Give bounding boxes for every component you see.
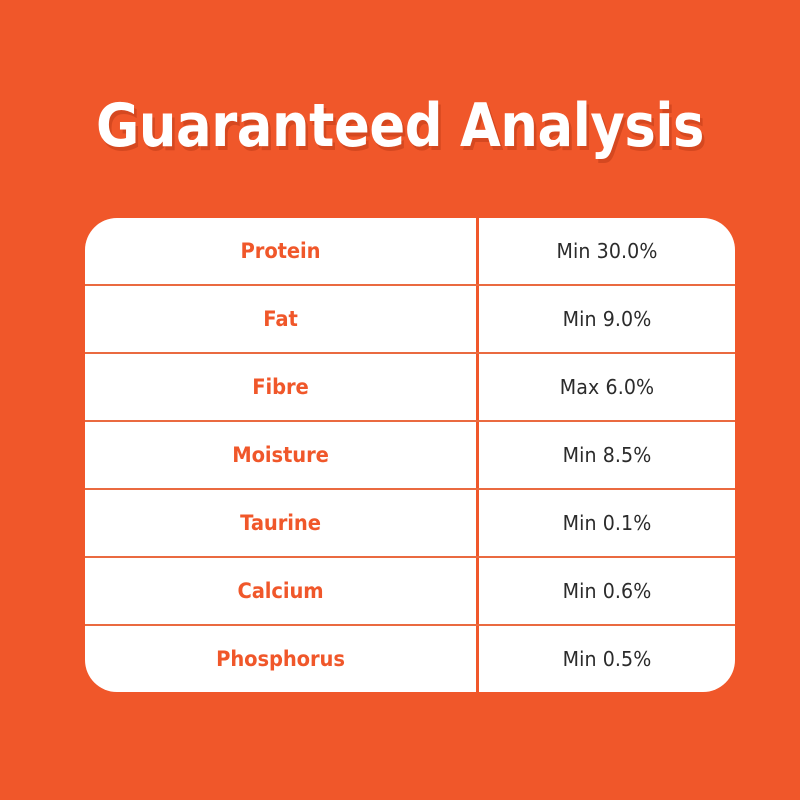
- column-divider: [476, 626, 479, 692]
- column-divider: [476, 286, 479, 352]
- column-divider: [476, 490, 479, 556]
- table-row: Calcium Min 0.6%: [85, 556, 735, 624]
- nutrition-table: Protein Min 30.0% Fat Min 9.0% Fibre Max…: [85, 218, 735, 692]
- column-divider: [476, 422, 479, 488]
- table-row: Fibre Max 6.0%: [85, 352, 735, 420]
- table-row: Protein Min 30.0%: [85, 218, 735, 284]
- nutrient-amount: Min 0.1%: [485, 490, 728, 556]
- nutrient-amount: Min 30.0%: [485, 218, 728, 284]
- column-divider: [476, 218, 479, 284]
- nutrient-name: Fat: [99, 286, 463, 352]
- table-row: Phosphorus Min 0.5%: [85, 624, 735, 692]
- nutrient-amount: Min 0.6%: [485, 558, 728, 624]
- nutrient-name: Fibre: [99, 354, 463, 420]
- table-row: Taurine Min 0.1%: [85, 488, 735, 556]
- column-divider: [476, 558, 479, 624]
- nutrient-name: Moisture: [99, 422, 463, 488]
- nutrient-name: Phosphorus: [99, 626, 463, 692]
- nutrient-amount: Min 8.5%: [485, 422, 728, 488]
- nutrient-amount: Max 6.0%: [485, 354, 728, 420]
- page-title: Guaranteed Analysis: [48, 92, 752, 160]
- nutrient-amount: Min 0.5%: [485, 626, 728, 692]
- column-divider: [476, 354, 479, 420]
- nutrient-name: Protein: [99, 218, 463, 284]
- guaranteed-analysis-panel: Guaranteed Analysis Protein Min 30.0% Fa…: [0, 0, 800, 800]
- nutrient-amount: Min 9.0%: [485, 286, 728, 352]
- nutrient-name: Taurine: [99, 490, 463, 556]
- nutrient-name: Calcium: [99, 558, 463, 624]
- table-row: Moisture Min 8.5%: [85, 420, 735, 488]
- table-row: Fat Min 9.0%: [85, 284, 735, 352]
